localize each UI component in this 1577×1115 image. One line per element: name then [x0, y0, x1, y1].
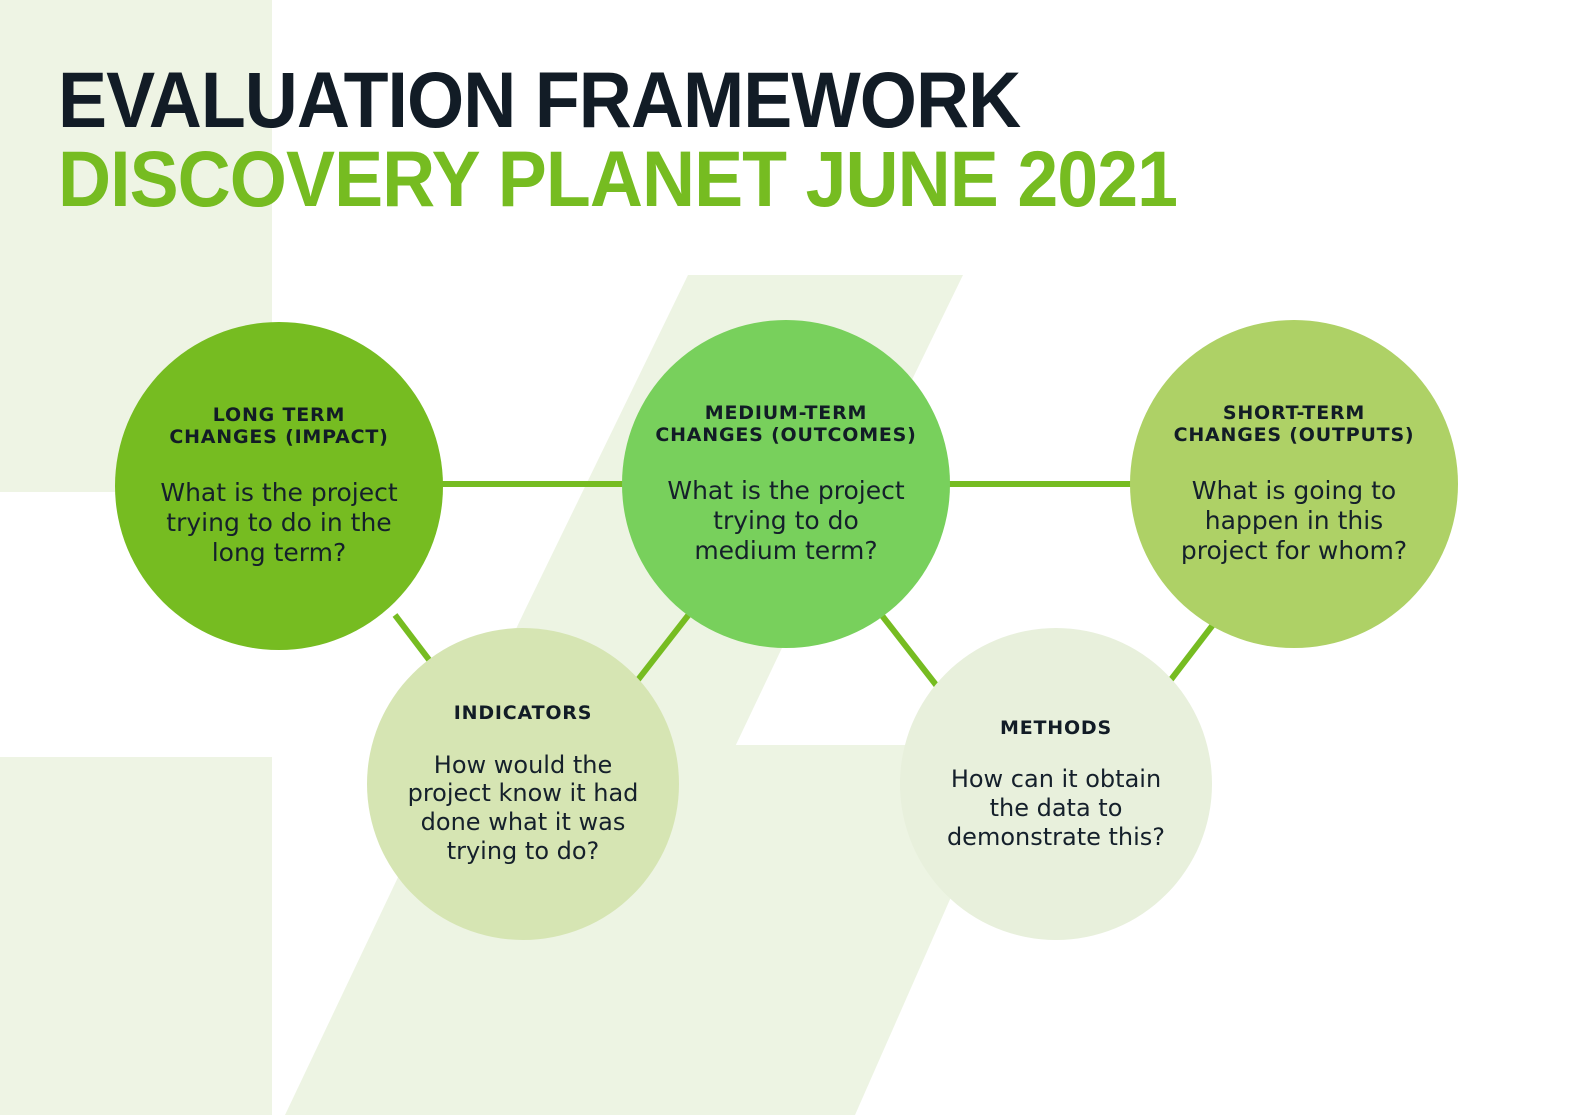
connector-outcomes-methods — [880, 613, 940, 690]
node-methods[interactable]: METHODS How can it obtain the data to de… — [900, 628, 1212, 940]
node-body: How can it obtain the data to demonstrat… — [947, 765, 1165, 851]
node-title: LONG TERM CHANGES (IMPACT) — [169, 404, 388, 449]
node-short-term-changes[interactable]: SHORT-TERM CHANGES (OUTPUTS) What is goi… — [1130, 320, 1458, 648]
node-title: INDICATORS — [454, 702, 592, 724]
node-body: What is the project trying to do in the … — [160, 478, 397, 568]
node-medium-term-changes[interactable]: MEDIUM-TERM CHANGES (OUTCOMES) What is t… — [622, 320, 950, 648]
title-line-primary: EVALUATION FRAMEWORK — [58, 62, 1177, 137]
title-line-secondary: DISCOVERY PLANET JUNE 2021 — [58, 141, 1177, 216]
page-title: EVALUATION FRAMEWORK DISCOVERY PLANET JU… — [58, 62, 1261, 216]
connector-outcomes-indicators — [630, 613, 690, 690]
node-indicators[interactable]: INDICATORS How would the project know it… — [367, 628, 679, 940]
node-title: MEDIUM-TERM CHANGES (OUTCOMES) — [655, 402, 916, 447]
node-long-term-changes[interactable]: LONG TERM CHANGES (IMPACT) What is the p… — [115, 322, 443, 650]
node-body: What is the project trying to do medium … — [667, 476, 904, 566]
node-body: What is going to happen in this project … — [1181, 476, 1407, 566]
node-body: How would the project know it had done w… — [408, 751, 639, 866]
node-title: METHODS — [1000, 717, 1112, 739]
node-title: SHORT-TERM CHANGES (OUTPUTS) — [1174, 402, 1415, 447]
